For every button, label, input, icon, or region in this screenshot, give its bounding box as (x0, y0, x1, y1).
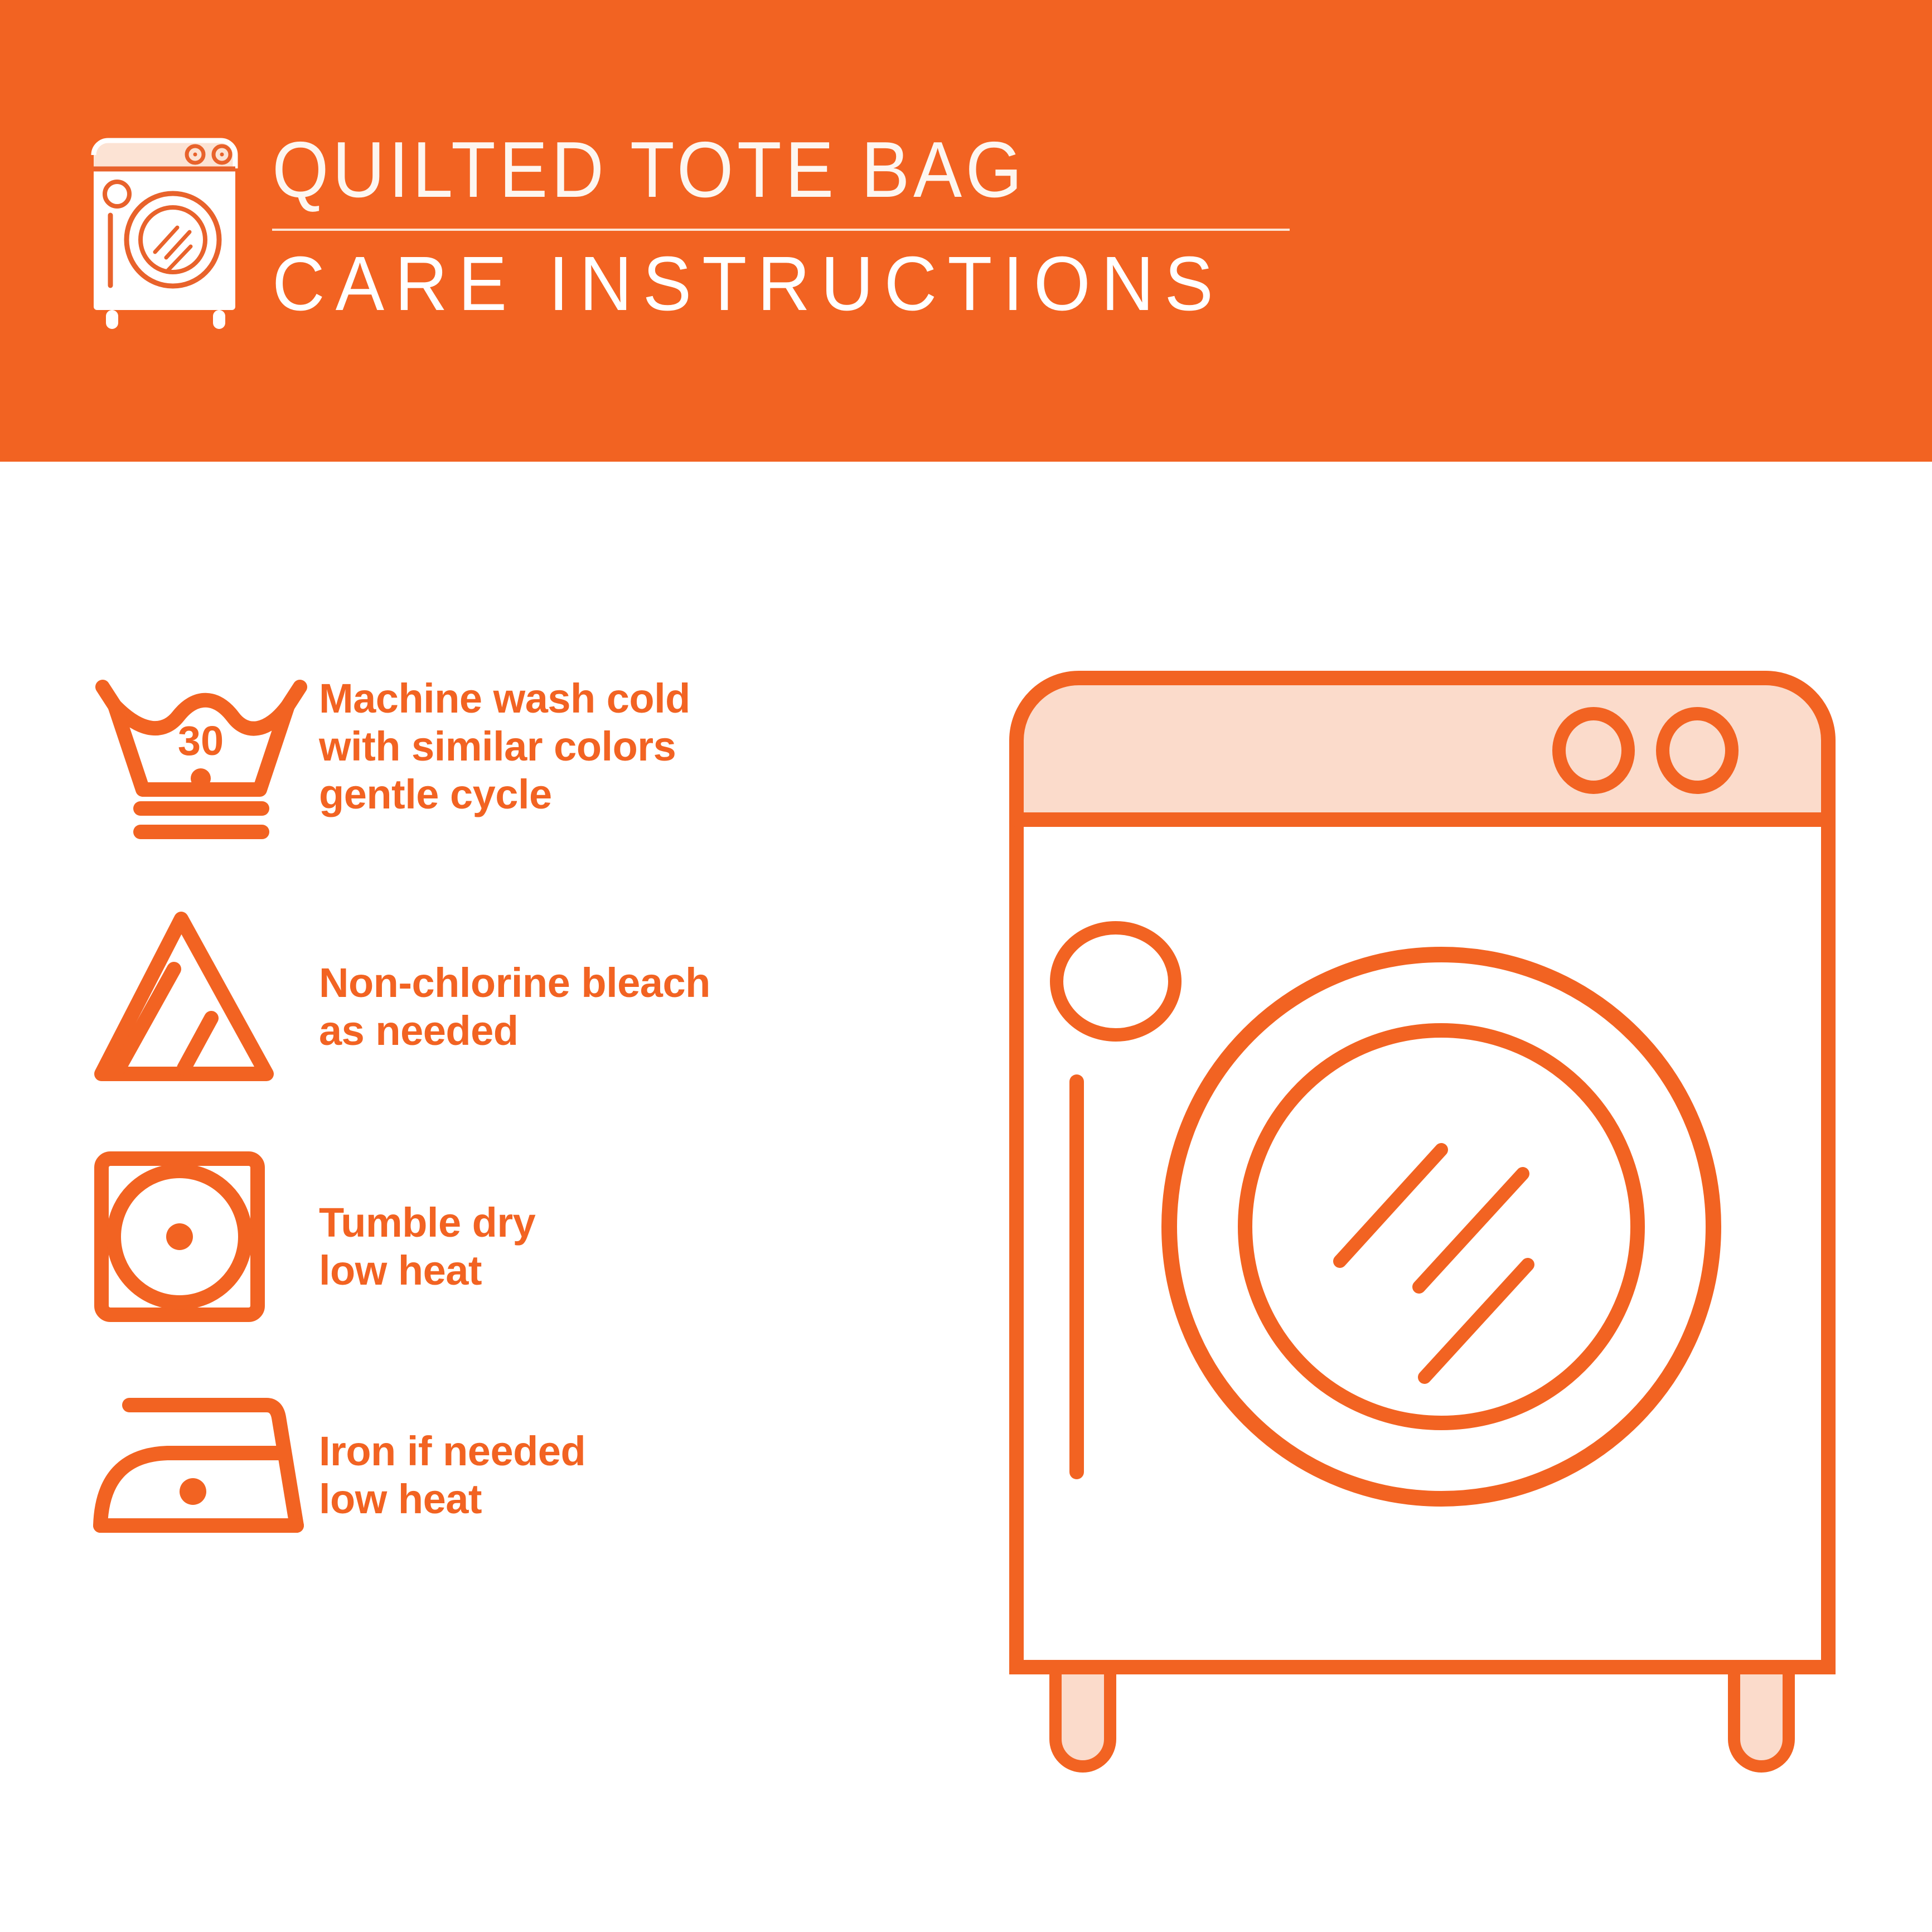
care-row-text: Non-chlorine bleach as needed (312, 959, 710, 1055)
wash-tub-30-icon: 30 (89, 658, 312, 853)
care-line: Machine wash cold (319, 675, 690, 723)
care-row: 30 Machine wash cold with similar colors… (89, 658, 914, 892)
care-instructions-card: QUILTED TOTE BAG CARE INSTRUCTIONS 30 (0, 0, 1932, 1932)
care-row: Tumble dry low heat (89, 1126, 914, 1360)
bleach-triangle-icon (89, 892, 312, 1091)
care-line: as needed (319, 1007, 710, 1055)
care-row-text: Machine wash cold with similar colors ge… (312, 675, 690, 818)
care-row: Iron if needed low heat (89, 1360, 914, 1595)
care-row-text: Iron if needed low heat (312, 1427, 585, 1523)
iron-low-icon (89, 1360, 312, 1572)
wash-temperature-label: 30 (178, 718, 224, 764)
care-line: low heat (319, 1475, 585, 1523)
care-line: low heat (319, 1247, 535, 1295)
care-row-text: Tumble dry low heat (312, 1199, 535, 1295)
care-row: Non-chlorine bleach as needed (89, 892, 914, 1126)
page-subtitle: CARE INSTRUCTIONS (272, 245, 1239, 322)
care-instruction-list: 30 Machine wash cold with similar colors… (89, 658, 914, 1595)
knob-right (1663, 714, 1732, 787)
page-title: QUILTED TOTE BAG (272, 130, 1208, 210)
care-line: gentle cycle (319, 771, 690, 819)
header-content: QUILTED TOTE BAG CARE INSTRUCTIONS (84, 128, 1290, 332)
knob-left (1559, 714, 1628, 787)
large-washing-machine-illustration (973, 641, 1876, 1790)
header-banner: QUILTED TOTE BAG CARE INSTRUCTIONS (0, 0, 1932, 462)
care-line: Iron if needed (319, 1427, 585, 1475)
care-line: Tumble dry (319, 1199, 535, 1247)
washing-machine-icon (84, 128, 251, 332)
title-divider (272, 229, 1290, 231)
care-line: with similar colors (319, 723, 690, 771)
tumble-dry-low-icon (89, 1126, 312, 1333)
header-title-group: QUILTED TOTE BAG CARE INSTRUCTIONS (272, 128, 1290, 322)
care-line: Non-chlorine bleach (319, 959, 710, 1007)
dispenser-circle (1057, 928, 1175, 1035)
